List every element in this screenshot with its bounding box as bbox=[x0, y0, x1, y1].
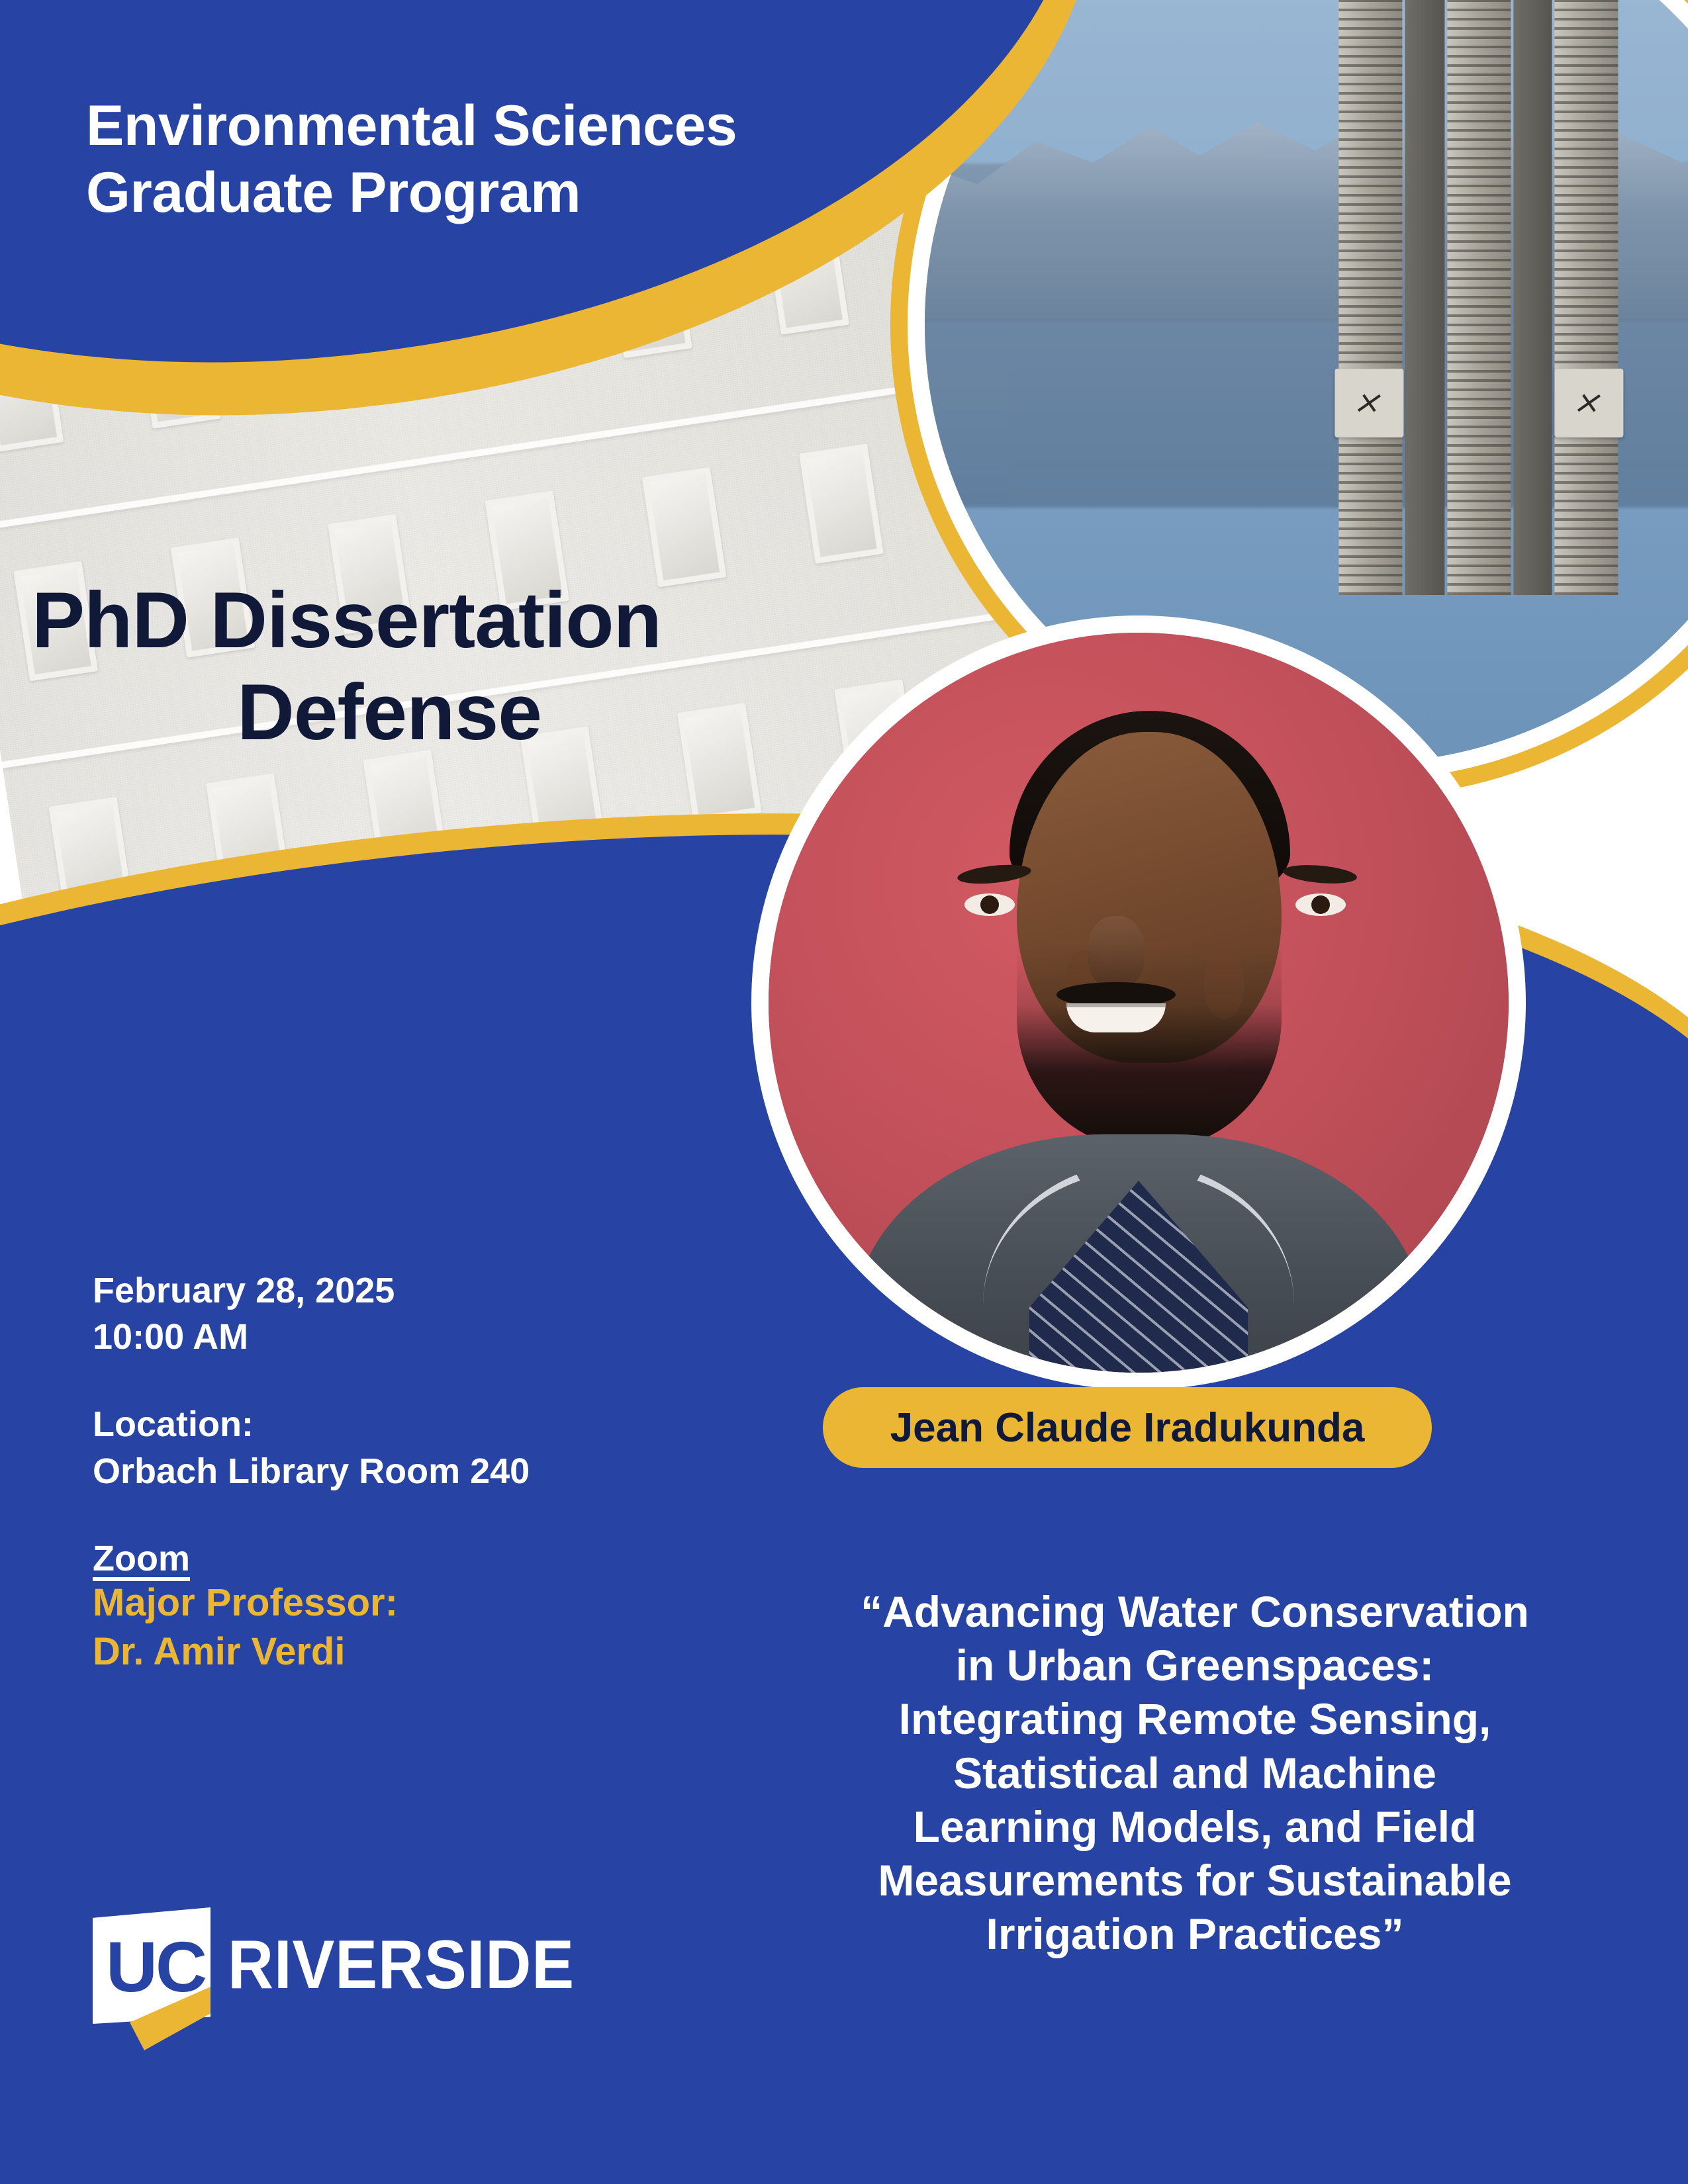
zoom-link[interactable]: Zoom bbox=[93, 1535, 190, 1582]
candidate-name: Jean Claude Iradukunda bbox=[890, 1404, 1365, 1451]
major-professor-label: Major Professor: bbox=[93, 1578, 755, 1627]
dissertation-title-line: Integrating Remote Sensing, bbox=[755, 1692, 1635, 1746]
location-block: Location: Orbach Library Room 240 bbox=[93, 1401, 755, 1494]
dissertation-title-line: Statistical and Machine bbox=[755, 1747, 1635, 1800]
page-title: PhD Dissertation Defense bbox=[32, 574, 833, 758]
dissertation-title-line: Irrigation Practices” bbox=[755, 1907, 1635, 1961]
major-professor-name: Dr. Amir Verdi bbox=[93, 1627, 755, 1676]
location-value: Orbach Library Room 240 bbox=[93, 1448, 755, 1494]
dissertation-title-line: in Urban Greenspaces: bbox=[755, 1639, 1635, 1692]
major-professor-block: Major Professor: Dr. Amir Verdi bbox=[93, 1578, 755, 1676]
event-date: February 28, 2025 bbox=[93, 1267, 755, 1314]
program-title-line1: Environmental Sciences bbox=[86, 93, 854, 159]
candidate-portrait-circle bbox=[751, 615, 1526, 1390]
datetime-block: February 28, 2025 10:00 AM bbox=[93, 1267, 755, 1360]
location-label: Location: bbox=[93, 1401, 755, 1447]
uc-logo-mark: UC bbox=[93, 1907, 211, 2032]
dissertation-title-line: Learning Models, and Field bbox=[755, 1800, 1635, 1854]
page-title-line1: PhD Dissertation bbox=[32, 574, 833, 666]
dissertation-defense-flyer: Environmental Sciences Graduate Program … bbox=[0, 0, 1688, 2184]
event-time: 10:00 AM bbox=[93, 1314, 755, 1360]
bell-tower-icon bbox=[1338, 0, 1650, 607]
page-title-line2: Defense bbox=[32, 666, 833, 758]
zoom-block: Zoom bbox=[93, 1535, 755, 1582]
riverside-wordmark: RIVERSIDE bbox=[228, 1926, 575, 2005]
dissertation-title: “Advancing Water Conservation in Urban G… bbox=[755, 1585, 1635, 1961]
program-title-line2: Graduate Program bbox=[86, 159, 854, 226]
uc-riverside-logo: UC RIVERSIDE bbox=[93, 1899, 688, 2045]
event-details: February 28, 2025 10:00 AM Location: Orb… bbox=[93, 1267, 755, 1582]
candidate-headshot bbox=[769, 633, 1509, 1373]
dissertation-title-line: Measurements for Sustainable bbox=[755, 1854, 1635, 1907]
program-title: Environmental Sciences Graduate Program bbox=[86, 93, 854, 227]
uc-logo-text: UC bbox=[106, 1931, 205, 2003]
candidate-name-badge: Jean Claude Iradukunda bbox=[823, 1387, 1432, 1468]
dissertation-title-line: “Advancing Water Conservation bbox=[755, 1585, 1635, 1639]
